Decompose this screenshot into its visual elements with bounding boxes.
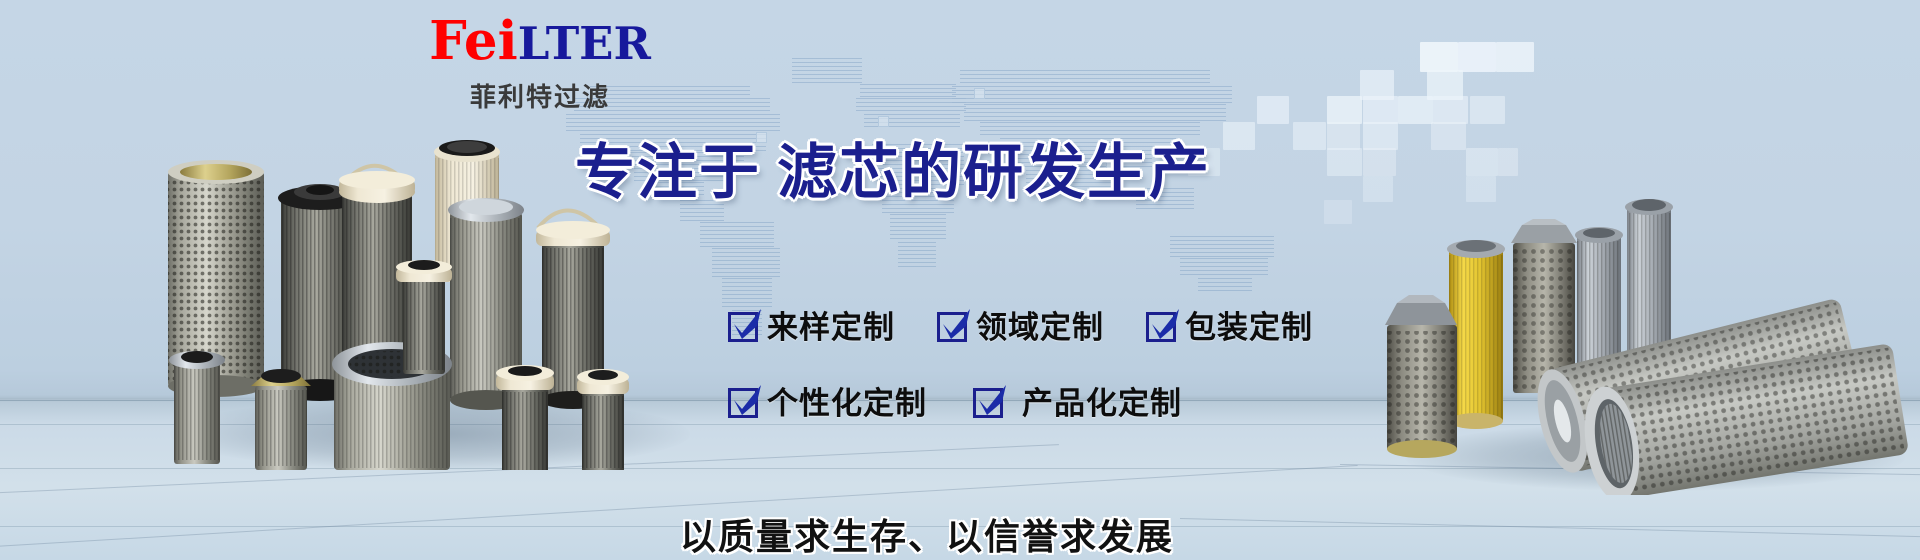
feature-label: 领域定制 [976,302,1104,347]
tagline: 以质量求生存、以信誉求发展 [680,508,1174,560]
company-logo[interactable]: FeiLTER 菲利特过滤 [390,12,690,114]
headline-part-2: 滤芯的研发生产 [777,138,1211,208]
feature-row-2: 个性化定制 产品化定制 [728,371,1313,429]
checkbox-checked-icon [1146,309,1176,339]
logo-wordmark: FeiLTER [390,12,690,73]
feature-label: 包装定制 [1185,302,1313,347]
feature-item-lingyudingzhi[interactable]: 领域定制 [937,302,1104,347]
checkbox-checked-icon [973,385,1003,415]
feature-item-laiyangdingzhi[interactable]: 来样定制 [728,302,895,347]
feature-label: 个性化定制 [767,378,927,423]
checkbox-checked-icon [937,309,967,339]
feature-item-baozhuangdingzhi[interactable]: 包装定制 [1146,302,1313,347]
feature-item-chanpinhuadingzhi[interactable]: 产品化定制 [973,378,1182,423]
logo-chinese-name: 菲利特过滤 [390,77,690,114]
headline-part-1: 专注于 [575,138,761,208]
promo-banner: FeiLTER 菲利特过滤 专注于滤芯的研发生产 来样定制 领域定制 [0,0,1920,560]
feature-item-gexinghuadingzhi[interactable]: 个性化定制 [728,378,927,423]
pixel-mosaic-squares [1120,0,1920,330]
logo-wordmark-lter: LTER [518,17,651,70]
feature-list: 来样定制 领域定制 包装定制 [728,295,1313,429]
feature-label: 产品化定制 [1022,378,1182,423]
headline: 专注于滤芯的研发生产 [575,142,1211,204]
checkbox-checked-icon [728,309,758,339]
checkbox-checked-icon [728,385,758,415]
logo-wordmark-fei: Fei [429,10,518,72]
feature-row-1: 来样定制 领域定制 包装定制 [728,295,1313,353]
feature-label: 来样定制 [767,302,895,347]
